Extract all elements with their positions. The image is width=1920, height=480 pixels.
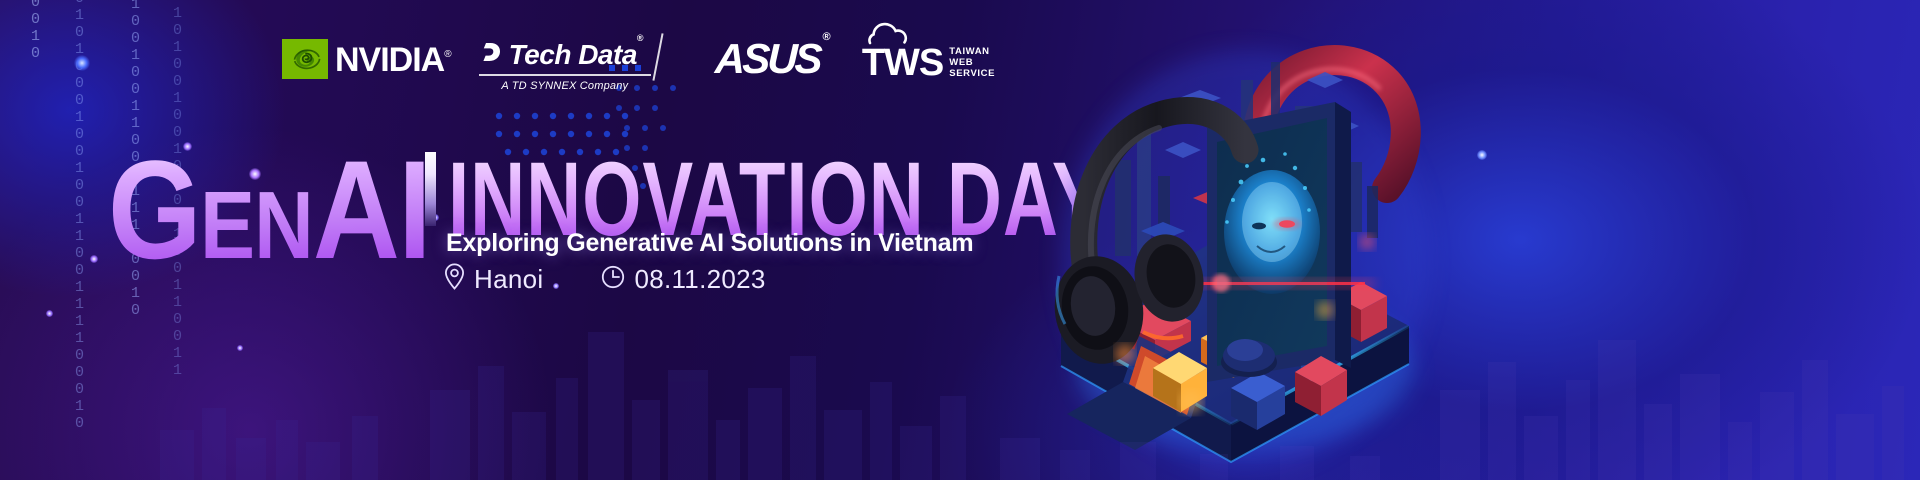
glow-dot	[237, 345, 243, 351]
sponsor-logo-row: NVIDIA® Tech Data® A TD SYNNEX Company	[282, 36, 995, 98]
nvidia-logo[interactable]: NVIDIA®	[282, 36, 451, 82]
tech-data-slash-decoration	[652, 33, 663, 80]
tech-data-monogram-icon	[477, 39, 503, 70]
location-pin-icon	[444, 263, 465, 295]
event-banner: 0010 01010001001001100111100010 10010011…	[0, 0, 1920, 480]
event-location: Hanoi	[444, 263, 543, 295]
glow-dot	[90, 255, 98, 263]
glow-dot	[1477, 150, 1487, 160]
tws-logo[interactable]: TWS TAIWAN WEB SERVICE	[862, 36, 995, 82]
clock-icon	[601, 265, 625, 294]
cloud-icon	[868, 19, 932, 50]
binary-rain-column: 01010001001001100111100010	[72, 0, 87, 432]
location-label: Hanoi	[474, 264, 543, 295]
event-meta-row: Hanoi 08.11.2023	[444, 263, 766, 295]
tech-data-tagline: A TD SYNNEX Company	[473, 80, 657, 92]
date-label: 08.11.2023	[634, 264, 765, 295]
tech-data-logo[interactable]: Tech Data® A TD SYNNEX Company	[473, 36, 657, 92]
title-divider	[425, 152, 436, 226]
asus-logo[interactable]: ASUS®	[715, 36, 828, 82]
banner-subtitle: Exploring Generative AI Solutions in Vie…	[446, 229, 973, 258]
genai-brand-title: GENAI	[108, 140, 430, 296]
tech-data-underline-decoration	[479, 74, 651, 76]
ai-illustration	[995, 10, 1465, 480]
nvidia-eye-icon	[282, 39, 328, 79]
tech-data-dots-decoration	[609, 65, 641, 71]
asus-wordmark: ASUS®	[714, 38, 828, 80]
binary-rain-column: 0010	[28, 0, 43, 62]
tws-tagline: TAIWAN WEB SERVICE	[949, 46, 995, 82]
glow-dot	[46, 310, 53, 317]
city-skyline-silhouette	[0, 270, 1920, 480]
nvidia-wordmark: NVIDIA®	[335, 43, 451, 77]
event-date: 08.11.2023	[601, 264, 765, 295]
